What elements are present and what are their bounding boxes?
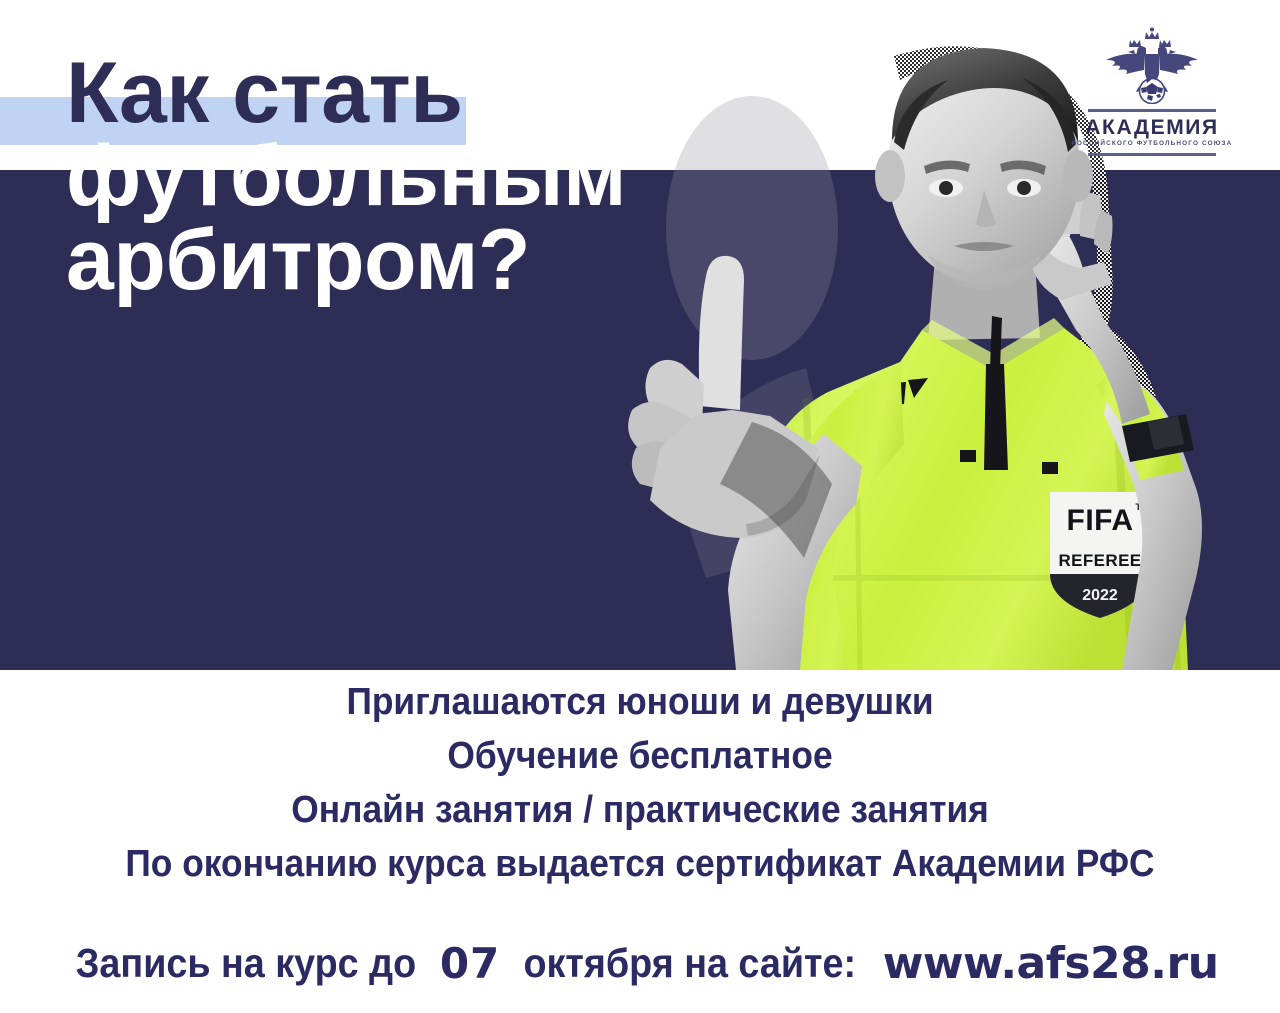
info-line: Обучение бесплатное: [45, 730, 1235, 784]
academy-logo: АКАДЕМИЯ РОССИЙСКОГО ФУТБОЛЬНОГО СОЮЗА: [1066, 26, 1238, 166]
headline-line-3: арбитром?: [66, 219, 626, 302]
cta-website-url[interactable]: www.afs28.ru: [875, 938, 1219, 989]
logo-title: АКАДЕМИЯ: [1066, 117, 1238, 138]
cta-prefix: Запись на курс до: [76, 940, 416, 987]
badge-year-text: 2022: [1082, 587, 1118, 604]
info-line: Онлайн занятия / практические занятия: [45, 784, 1235, 838]
poster-root: Как стать футбольным арбитром?: [0, 0, 1280, 1013]
cta-deadline-date: 07: [436, 939, 504, 988]
headline-line-2: футбольным: [66, 135, 626, 218]
rfu-eagle-emblem: [1066, 26, 1238, 104]
cta-block: Запись на курс до 07 октября на сайте: w…: [0, 938, 1280, 989]
shirt-zip-top: [990, 316, 1002, 368]
logo-rule-top: [1088, 109, 1216, 112]
badge-fifa-text: FIFA: [1067, 504, 1134, 537]
headline-line-1: Как стать: [66, 52, 626, 135]
info-line: Приглашаются юноши и девушки: [45, 676, 1235, 730]
shirt-zip-placket: [984, 364, 1008, 470]
info-block: Приглашаются юноши и девушки Обучение бе…: [0, 676, 1280, 892]
shirt-trim-left: [960, 450, 976, 462]
cta-suffix: октября на сайте:: [523, 940, 856, 987]
logo-subtitle: РОССИЙСКОГО ФУТБОЛЬНОГО СОЮЗА: [1066, 141, 1238, 147]
badge-role-text: REFEREE: [1058, 551, 1141, 570]
football-icon: [1140, 79, 1165, 104]
logo-rule-bottom: [1088, 153, 1216, 156]
page-title: Как стать футбольным арбитром?: [66, 52, 626, 302]
shirt-trim-right: [1042, 462, 1058, 474]
info-line: По окончанию курса выдается сертификат А…: [45, 838, 1235, 892]
